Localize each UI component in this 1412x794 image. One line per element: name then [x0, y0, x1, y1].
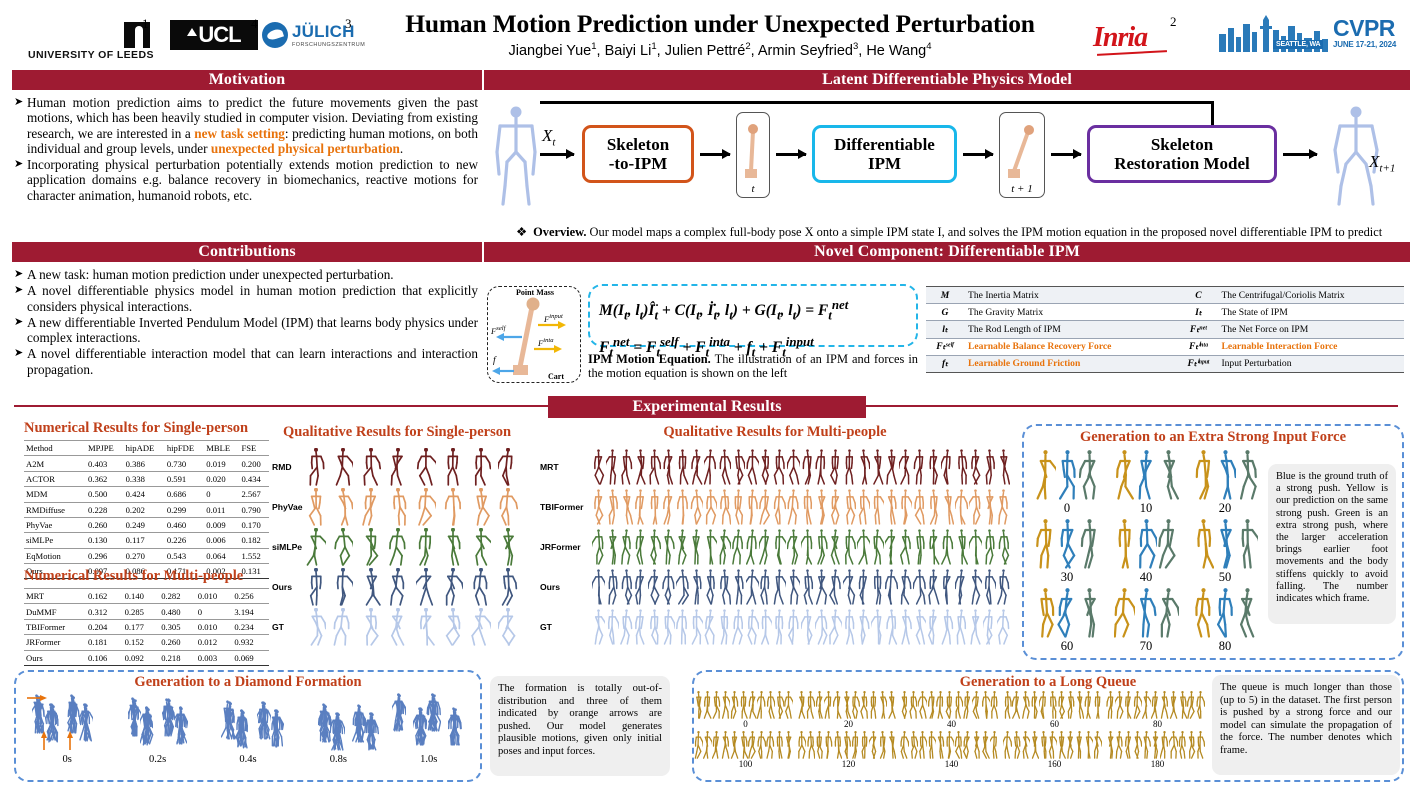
queue-frame-number: 100	[694, 759, 797, 769]
qual-single-row: siMLPe	[272, 527, 522, 567]
bullet-arrow-icon: ➤	[14, 283, 27, 314]
diamond-crowd	[205, 692, 291, 754]
cell-value: 0.362	[86, 471, 124, 486]
notation-row: G The Gravity Matrix Iₜ The State of IPM	[926, 304, 1404, 321]
cvpr-city-label: SEATTLE, WA	[1273, 40, 1323, 49]
qual-multi-frame	[843, 489, 927, 525]
panel-long-queue: Generation to a Long Queue	[692, 670, 1404, 782]
qual-single-row: GT	[272, 607, 522, 647]
leeds-affiliation-number: 1	[142, 16, 149, 32]
cell-value: 0.006	[204, 533, 239, 548]
diamond-caption: The formation is totally out-of-distribu…	[490, 676, 670, 776]
qual-multi-frame	[926, 529, 1010, 565]
qual-multi-frame	[759, 569, 843, 605]
pipeline-diagram: Xt Skeleton-to-IPM t Differentiabl	[484, 90, 1410, 225]
qual-single-frame	[357, 488, 385, 526]
cell-value: 0.117	[124, 533, 165, 548]
qual-single-row-label-ours: Ours	[272, 582, 302, 592]
diamond-frame: 0.8s	[295, 692, 381, 765]
qual-single-frame	[440, 528, 468, 566]
poster-header: UNIVERSITY OF LEEDS 1 UCL 4 JÜLICH FORSC…	[0, 0, 1412, 70]
cell-value: 0.182	[239, 533, 269, 548]
table-row: PhyVae 0.260 0.249 0.460 0.009 0.170	[24, 517, 269, 532]
contribution-text: A new differentiable Inverted Pendulum M…	[27, 315, 478, 346]
cell-value: 0.260	[86, 517, 124, 532]
diamond-frames: 0s	[16, 692, 480, 765]
block-skeleton-to-ipm-line2: -to-IPM	[609, 154, 668, 173]
table-row: EqMotion 0.296 0.270 0.543 0.064 1.552	[24, 548, 269, 563]
notation-desc: The Rod Length of IPM	[964, 321, 1179, 338]
bullet-arrow-icon: ➤	[14, 95, 27, 156]
diamond-frame: 0s	[24, 692, 110, 765]
extra-force-body: 01020	[1024, 446, 1402, 642]
juelich-sublabel: FORSCHUNGSZENTRUM	[292, 42, 365, 48]
f-inta-label: Finta	[538, 337, 554, 348]
qual-multi-rows: MRT	[540, 447, 1010, 647]
table-row: siMLPe 0.130 0.117 0.226 0.006 0.182	[24, 533, 269, 548]
table-header-row: Method MPJPE hipADE hipFDE MBLE FSE	[24, 441, 269, 456]
bullet-arrow-icon: ➤	[14, 267, 27, 282]
table-row: TBIFormer 0.204 0.177 0.305 0.010 0.234	[24, 619, 269, 634]
extra-force-label-band: 607080	[1030, 639, 1262, 654]
overview-bold: Overview.	[533, 225, 586, 239]
qual-single-rows: RMD	[272, 447, 522, 647]
contribution-text: A novel differentiable physics model in …	[27, 283, 478, 314]
queue-frame-number: 180	[1106, 759, 1209, 769]
contributions-banner: Contributions	[12, 242, 482, 262]
col-fse: FSE	[239, 441, 269, 456]
equation-caption-bold: IPM Motion Equation.	[588, 352, 711, 366]
extra-force-triplet	[1030, 450, 1104, 500]
motivation-bullet-1-text: Human motion prediction aims to predict …	[27, 95, 478, 156]
qual-single-frame	[467, 528, 495, 566]
cell-value: 0.010	[196, 619, 233, 634]
input-label: Xt	[542, 126, 555, 148]
table-row: Ours 0.106 0.092 0.218 0.003 0.069	[24, 650, 269, 665]
qual-single-frame	[385, 448, 413, 486]
qual-multi-frame	[759, 609, 843, 645]
notation-desc: The Centrifugal/Coriolis Matrix	[1217, 287, 1404, 304]
queue-group: 20	[797, 691, 900, 729]
block-differentiable-ipm-line1: Differentiable	[834, 135, 935, 154]
notation-symbol: Fₜˢᵉˡᶠ	[926, 338, 964, 355]
diamond-person	[318, 704, 331, 742]
notation-row: lₜ The Rod Length of IPM Fₜⁿᵉᵗ The Net F…	[926, 321, 1404, 338]
qual-single-frame	[330, 448, 358, 486]
qual-multi-frame	[676, 569, 760, 605]
qual-single-row: PhyVae	[272, 487, 522, 527]
panel-diamond-formation: Generation to a Diamond Formation	[14, 670, 482, 782]
col-mpjpe: MPJPE	[86, 441, 124, 456]
output-label: Xt+1	[1369, 152, 1395, 174]
ucl-affiliation-number: 4	[251, 16, 258, 32]
cell-value: 0.202	[124, 502, 165, 517]
cell-value: 0.228	[86, 502, 124, 517]
qual-single-frame	[467, 488, 495, 526]
feedback-line	[540, 101, 1214, 104]
poster-title: Human Motion Prediction under Unexpected…	[360, 10, 1080, 38]
qual-single-frame	[357, 608, 385, 646]
multi-people-title: Numerical Results for Multi-people	[24, 568, 269, 585]
queue-frame-number: 20	[797, 719, 900, 729]
cell-value: 0.500	[86, 487, 124, 502]
extra-force-frame-band	[1030, 450, 1262, 500]
block-skeleton-to-ipm-line1: Skeleton	[607, 135, 669, 154]
diamond-person	[45, 703, 58, 741]
cvpr-label: CVPR	[1333, 15, 1395, 42]
cell-value: 0.020	[204, 471, 239, 486]
single-person-table: Method MPJPE hipADE hipFDE MBLE FSE A2M …	[24, 440, 269, 579]
diamond-crowd	[295, 692, 381, 754]
notation-desc: The Gravity Matrix	[964, 304, 1179, 321]
panel-extra-strong-force: Generation to an Extra Strong Input Forc…	[1022, 424, 1404, 660]
table-row: A2M 0.403 0.386 0.730 0.019 0.200	[24, 456, 269, 471]
qual-single-row-label-simlpe: siMLPe	[272, 542, 302, 552]
physics-model-banner: Latent Differentiable Physics Model	[484, 70, 1410, 90]
extra-force-frames: 01020	[1030, 450, 1262, 657]
extra-force-frame-number: 30	[1030, 570, 1104, 585]
qual-single-frame	[357, 568, 385, 606]
qual-single-frame	[440, 568, 468, 606]
cell-value: 0.140	[123, 589, 160, 604]
qual-multi-frame	[926, 449, 1010, 485]
bullet-arrow-icon: ➤	[14, 346, 27, 377]
contribution-item: ➤ A novel differentiable physics model i…	[14, 283, 478, 314]
motivation-banner: Motivation	[12, 70, 482, 90]
cell-method: JRFormer	[24, 635, 86, 650]
contribution-item: ➤ A new differentiable Inverted Pendulum…	[14, 315, 478, 346]
cell-value: 0.338	[124, 471, 165, 486]
inria-affiliation-number: 2	[1170, 14, 1177, 30]
qual-multi-row-label-mrt: MRT	[540, 462, 592, 472]
contribution-text: A novel differentiable interaction model…	[27, 346, 478, 377]
exp-rule-right	[866, 405, 1398, 407]
cell-method: DuMMF	[24, 604, 86, 619]
extra-force-frame-number: 80	[1188, 639, 1262, 654]
qual-multi-frame	[592, 489, 676, 525]
qual-multi-frame	[592, 529, 676, 565]
notation-desc: Learnable Interaction Force	[1217, 338, 1404, 355]
cell-value: 1.552	[239, 548, 269, 563]
table-row: MRT 0.162 0.140 0.282 0.010 0.256	[24, 589, 269, 604]
cell-value: 2.567	[239, 487, 269, 502]
diamond-person	[427, 694, 440, 732]
qual-multi-row: GT	[540, 607, 1010, 647]
extra-force-frame-number: 70	[1109, 639, 1183, 654]
extra-force-frame-number: 50	[1188, 570, 1262, 585]
cell-value: 0.460	[165, 517, 204, 532]
notation-symbol: M	[926, 287, 964, 304]
novel-component-body: Point Mass Cart Finput Finta	[484, 262, 1410, 384]
arrow-dipm-to-state-t1	[963, 153, 993, 156]
cell-value: 0	[204, 487, 239, 502]
diamond-frame: 1.0s	[386, 692, 472, 765]
qual-single-row: RMD	[272, 447, 522, 487]
qual-single-frame	[495, 488, 523, 526]
diamond-person	[174, 706, 187, 744]
author-list: Jiangbei Yue1, Baiyi Li1, Julien Pettré2…	[360, 41, 1080, 59]
qual-single-frame	[495, 448, 523, 486]
notation-symbol: fₜ	[926, 355, 964, 372]
section-contributions: Contributions ➤ A new task: human motion…	[12, 242, 482, 378]
table-row: MDM 0.500 0.424 0.686 0 2.567	[24, 487, 269, 502]
table-row: RMDiffuse 0.228 0.202 0.299 0.011 0.790	[24, 502, 269, 517]
queue-body: 0	[694, 691, 1402, 771]
extra-force-frame-number: 0	[1030, 501, 1104, 516]
block-restoration-line1: Skeleton	[1151, 135, 1213, 154]
diamond-crowd	[115, 692, 201, 754]
ipm-state-t-plus-1: t + 1	[999, 112, 1045, 198]
qual-multi-row: JRFormer	[540, 527, 1010, 567]
ucl-triangle-icon	[187, 28, 197, 36]
contribution-item: ➤ A new task: human motion prediction un…	[14, 267, 478, 282]
cell-value: 0.009	[204, 517, 239, 532]
arrow-state-t1-to-restoration	[1051, 153, 1081, 156]
qual-single-frame	[302, 488, 330, 526]
queue-frame-number: 160	[1003, 759, 1106, 769]
contributions-body: ➤ A new task: human motion prediction un…	[12, 262, 482, 377]
qual-single-title: Qualitative Results for Single-person	[272, 424, 522, 441]
extra-force-frame-band	[1030, 519, 1262, 569]
title-block: Human Motion Prediction under Unexpected…	[360, 10, 1080, 59]
extra-force-frame-number: 10	[1109, 501, 1183, 516]
cell-value: 0.299	[165, 502, 204, 517]
cell-method: ACTOR	[24, 471, 86, 486]
cell-value: 0.424	[124, 487, 165, 502]
extra-force-triplet	[1030, 588, 1104, 638]
cell-value: 0.011	[204, 502, 239, 517]
cell-value: 3.194	[232, 604, 269, 619]
qual-single-row: Ours	[272, 567, 522, 607]
arrow-state-t-to-dipm	[776, 153, 806, 156]
diamond-time-label: 0.4s	[205, 754, 291, 765]
cell-value: 0.012	[196, 635, 233, 650]
input-skeleton-icon	[486, 104, 546, 209]
cell-value: 0.305	[159, 619, 196, 634]
qual-single-frame	[440, 488, 468, 526]
diamond-time-label: 0.2s	[115, 754, 201, 765]
qual-single-frame	[440, 448, 468, 486]
block-skeleton-restoration-model: SkeletonRestoration Model	[1087, 125, 1277, 183]
notation-desc: The Net Force on IPM	[1217, 321, 1404, 338]
qualitative-multi-people: Qualitative Results for Multi-people MRT	[540, 424, 1010, 647]
queue-group: 100	[694, 731, 797, 769]
queue-frame-number: 0	[694, 719, 797, 729]
qual-multi-frame	[676, 529, 760, 565]
cell-value: 0.092	[123, 650, 160, 665]
qual-single-frame	[467, 448, 495, 486]
cell-value: 0.181	[86, 635, 123, 650]
cell-value: 0.543	[165, 548, 204, 563]
cell-value: 0.790	[239, 502, 269, 517]
qual-multi-frame	[926, 489, 1010, 525]
multi-people-table: MRT 0.162 0.140 0.282 0.010 0.256 DuMMF …	[24, 588, 269, 666]
qual-single-row-label-rmd: RMD	[272, 462, 302, 472]
equation-box: M(It, lt)Î̈t + C(It, İ̇t, lt) + G(It, lt…	[588, 284, 918, 347]
qual-single-frame	[412, 608, 440, 646]
notation-symbol: G	[926, 304, 964, 321]
cell-method: EqMotion	[24, 548, 86, 563]
block-differentiable-ipm-line2: IPM	[868, 154, 901, 173]
qual-multi-frame	[759, 529, 843, 565]
contribution-item: ➤ A novel differentiable interaction mod…	[14, 346, 478, 377]
qual-multi-frame	[676, 489, 760, 525]
arrow-input-to-skeleton	[540, 153, 574, 156]
diamond-person	[128, 699, 141, 737]
diamond-time-label: 0.8s	[295, 754, 381, 765]
qual-multi-row-label-jrformer: JRFormer	[540, 542, 592, 552]
f-input-label: Finput	[544, 313, 563, 324]
cell-value: 0.312	[86, 604, 123, 619]
diamond-title: Generation to a Diamond Formation	[16, 674, 480, 691]
poster-root: UNIVERSITY OF LEEDS 1 UCL 4 JÜLICH FORSC…	[0, 0, 1412, 794]
extra-force-triplet	[1188, 588, 1262, 638]
arrow-skeleton-to-state-t	[700, 153, 730, 156]
qual-multi-frame	[592, 609, 676, 645]
cell-value: 0.403	[86, 456, 124, 471]
qual-single-frame	[357, 528, 385, 566]
queue-group: 120	[797, 731, 900, 769]
qual-multi-row-label-gt: GT	[540, 622, 592, 632]
cell-method: MRT	[24, 589, 86, 604]
diamond-time-label: 0s	[24, 754, 110, 765]
cell-value: 0.260	[159, 635, 196, 650]
col-hipade: hipADE	[124, 441, 165, 456]
diamond-person	[33, 696, 46, 734]
diamond-person	[393, 694, 406, 732]
qual-single-frame	[412, 448, 440, 486]
queue-group: 0	[694, 691, 797, 729]
cell-method: A2M	[24, 456, 86, 471]
block-differentiable-ipm: DifferentiableIPM	[812, 125, 957, 183]
cell-value: 0.130	[86, 533, 124, 548]
motivation-bullet-2: ➤ Incorporating physical perturbation po…	[14, 157, 478, 203]
extra-force-title: Generation to an Extra Strong Input Forc…	[1024, 429, 1402, 446]
cell-method: RMDiffuse	[24, 502, 86, 517]
notation-row: Fₜˢᵉˡᶠ Learnable Balance Recovery Force …	[926, 338, 1404, 355]
diamond-person	[223, 701, 236, 739]
extra-force-frame-number: 60	[1030, 639, 1104, 654]
qual-single-row-label-phyvae: PhyVae	[272, 502, 302, 512]
diamond-frame: 0.2s	[115, 692, 201, 765]
queue-group: 160	[1003, 731, 1106, 769]
notation-desc: Learnable Ground Friction	[964, 355, 1179, 372]
diamond-person	[140, 707, 153, 745]
notation-row: fₜ Learnable Ground Friction Fₜⁱⁿᵖᵘᵗ Inp…	[926, 355, 1404, 372]
cell-method: MDM	[24, 487, 86, 502]
qual-single-frame	[302, 608, 330, 646]
qual-multi-frame	[592, 449, 676, 485]
cell-value: 0.282	[159, 589, 196, 604]
bullet-arrow-icon: ➤	[14, 157, 27, 203]
leeds-label: UNIVERSITY OF LEEDS	[28, 49, 154, 61]
qual-single-row-label-gt: GT	[272, 622, 302, 632]
ipm-state-t-label: t	[751, 183, 754, 195]
cell-value: 0.170	[239, 517, 269, 532]
qual-multi-frame	[676, 609, 760, 645]
notation-symbol: Iₜ	[1179, 304, 1217, 321]
qual-multi-frame	[843, 449, 927, 485]
notation-symbol: lₜ	[926, 321, 964, 338]
qual-single-frame	[330, 608, 358, 646]
single-person-results: Numerical Results for Single-person Meth…	[24, 420, 269, 579]
col-mble: MBLE	[204, 441, 239, 456]
cell-value: 0.270	[124, 548, 165, 563]
qual-single-frame	[495, 528, 523, 566]
cell-value: 0.591	[165, 471, 204, 486]
notation-desc: The State of IPM	[1217, 304, 1404, 321]
notation-table-wrap: M The Inertia Matrix C The Centrifugal/C…	[926, 286, 1404, 373]
notation-symbol: Fₜⁱⁿᵖᵘᵗ	[1179, 355, 1217, 372]
extra-force-label-band: 01020	[1030, 501, 1262, 516]
qual-single-frame	[385, 568, 413, 606]
f-self-label: Fself	[491, 325, 505, 336]
col-method: Method	[24, 441, 86, 456]
cell-method: TBIFormer	[24, 619, 86, 634]
cell-value: 0.106	[86, 650, 123, 665]
diamond-person	[270, 709, 283, 747]
juelich-affiliation-number: 3	[345, 16, 352, 32]
f-friction-label: f	[493, 356, 496, 366]
cell-value: 0.434	[239, 471, 269, 486]
queue-frame-number: 140	[900, 759, 1003, 769]
ipm-illustration: Point Mass Cart Finput Finta	[487, 286, 581, 383]
queue-group: 80	[1106, 691, 1209, 729]
block-skeleton-to-ipm: Skeleton-to-IPM	[582, 125, 694, 183]
diamond-person	[448, 708, 461, 746]
diamond-person	[332, 713, 345, 751]
qual-multi-row: TBIFormer	[540, 487, 1010, 527]
diamond-person	[414, 707, 427, 745]
cell-value: 0.162	[86, 589, 123, 604]
extra-force-frame-band	[1030, 588, 1262, 638]
extra-force-label-band: 304050	[1030, 570, 1262, 585]
cell-value: 0.064	[204, 548, 239, 563]
ipm-state-t1-label: t + 1	[1011, 183, 1032, 195]
cell-value: 0.285	[123, 604, 160, 619]
cell-value: 0	[196, 604, 233, 619]
diamond-person	[365, 712, 378, 750]
qual-single-frame	[302, 448, 330, 486]
qual-single-frame	[330, 488, 358, 526]
ucl-label: UCL	[198, 22, 240, 48]
cell-value: 0.234	[232, 619, 269, 634]
qual-multi-title: Qualitative Results for Multi-people	[540, 424, 1010, 441]
qual-single-frame	[330, 568, 358, 606]
notation-desc: Learnable Balance Recovery Force	[964, 338, 1179, 355]
queue-frame-number: 80	[1106, 719, 1209, 729]
qual-single-frame	[495, 608, 523, 646]
cell-method: PhyVae	[24, 517, 86, 532]
notation-desc: The Inertia Matrix	[964, 287, 1179, 304]
diamond-frame: 0.4s	[205, 692, 291, 765]
equation-caption: IPM Motion Equation. The illustration of…	[588, 352, 918, 381]
cell-value: 0.010	[196, 589, 233, 604]
qual-multi-frame	[843, 569, 927, 605]
section-physics-model: Latent Differentiable Physics Model Xt	[484, 70, 1410, 254]
diamond-person	[236, 710, 249, 748]
cell-value: 0.200	[239, 456, 269, 471]
qualitative-single-person: Qualitative Results for Single-person RM…	[272, 424, 522, 647]
qual-single-frame	[467, 608, 495, 646]
notation-desc: Input Perturbation	[1217, 355, 1404, 372]
notation-table: M The Inertia Matrix C The Centrifugal/C…	[926, 286, 1404, 373]
section-novel-component: Novel Component: Differentiable IPM Poin…	[484, 242, 1410, 384]
qual-multi-row: MRT	[540, 447, 1010, 487]
qual-single-frame	[440, 608, 468, 646]
extra-force-triplet	[1109, 450, 1183, 500]
section-motivation: Motivation ➤ Human motion prediction aim…	[12, 70, 482, 204]
